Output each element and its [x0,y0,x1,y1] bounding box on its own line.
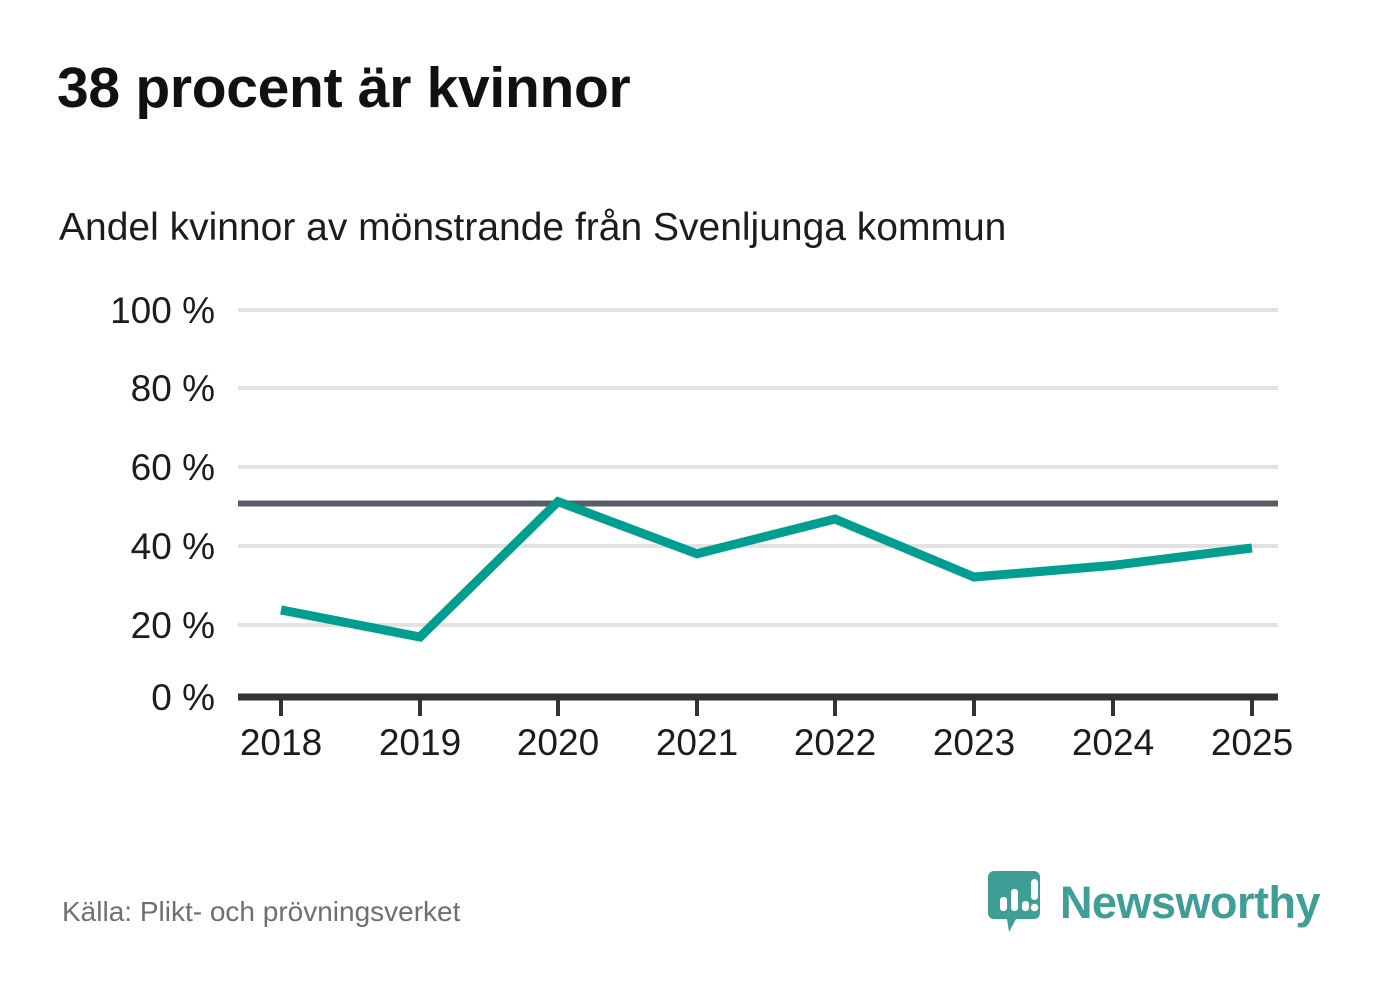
exclamation-stem [1031,879,1038,900]
x-tick-label-2025: 2025 [1211,722,1293,763]
line-chart: 100 % 80 % 60 % 40 % 20 % 0 % 2018 2019 … [0,0,1382,999]
newsworthy-bubble-chart-icon [988,869,1046,935]
x-axis-labels: 2018 2019 2020 2021 2022 2023 2024 2025 [240,722,1293,763]
x-tick-label-2018: 2018 [240,722,322,763]
chart-page: 38 procent är kvinnor Andel kvinnor av m… [0,0,1382,999]
exclamation-dot [1031,904,1039,912]
y-axis-labels: 100 % 80 % 60 % 40 % 20 % 0 % [110,290,215,718]
y-tick-label-20: 20 % [131,605,215,646]
bar-2 [1011,889,1018,911]
x-tick-label-2020: 2020 [517,722,599,763]
page-title: 38 procent är kvinnor [57,57,630,120]
bar-1 [1000,897,1007,911]
x-tick-label-2024: 2024 [1072,722,1154,763]
source-note: Källa: Plikt- och prövningsverket [62,896,460,928]
data-series-line [281,502,1252,637]
y-tick-label-100: 100 % [110,290,215,331]
x-tick-label-2021: 2021 [656,722,738,763]
x-axis-ticks [281,697,1252,716]
chart-svg: 100 % 80 % 60 % 40 % 20 % 0 % 2018 2019 … [0,0,1382,999]
y-tick-label-40: 40 % [131,526,215,567]
y-tick-label-0: 0 % [151,677,215,718]
newsworthy-logo: Newsworthy [988,869,1320,935]
y-tick-label-80: 80 % [131,368,215,409]
gridlines [238,310,1278,625]
y-tick-label-60: 60 % [131,447,215,488]
x-tick-label-2023: 2023 [933,722,1015,763]
logo-wordmark: Newsworthy [1060,880,1320,925]
x-tick-label-2019: 2019 [379,722,461,763]
x-tick-label-2022: 2022 [794,722,876,763]
chart-subtitle: Andel kvinnor av mönstrande från Svenlju… [59,206,1006,251]
bar-3 [1022,901,1029,911]
